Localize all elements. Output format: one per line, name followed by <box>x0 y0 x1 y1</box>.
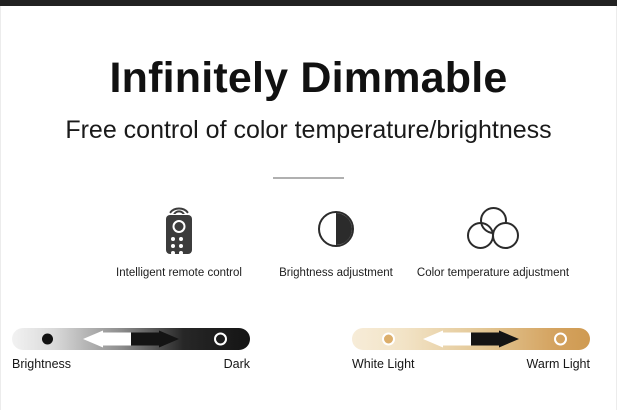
brightness-slider-labels: Brightness Dark <box>12 358 250 371</box>
brightness-slider-left-label: Brightness <box>12 358 71 371</box>
remote-power-button <box>173 220 186 233</box>
remote-key <box>171 237 175 241</box>
page-title: Infinitely Dimmable <box>0 57 617 100</box>
remote-keypad <box>171 237 187 255</box>
remote-key <box>179 251 183 255</box>
brightness-half-circle-icon <box>318 211 354 247</box>
feature-icon-wrap <box>407 200 579 258</box>
feature-color-temperature-adjustment: Color temperature adjustment <box>407 200 579 280</box>
double-arrow-icon <box>82 331 180 348</box>
color-temperature-slider[interactable]: White Light Warm Light <box>352 328 590 374</box>
remote-key <box>171 251 175 255</box>
double-arrow-icon <box>422 331 520 348</box>
signal-wave-icon <box>167 204 191 214</box>
brightness-slider[interactable]: Brightness Dark <box>12 328 250 374</box>
circle-right <box>492 222 519 249</box>
section-divider <box>273 177 344 179</box>
color-temperature-slider-track[interactable] <box>352 328 590 350</box>
color-slider-knob-white[interactable] <box>382 333 395 346</box>
remote-key <box>171 244 175 248</box>
top-dark-band <box>0 0 617 6</box>
brightness-slider-knob-high[interactable] <box>214 333 227 346</box>
color-slider-right-label: Warm Light <box>527 358 590 371</box>
color-slider-knob-warm[interactable] <box>554 333 567 346</box>
remote-body <box>166 215 192 254</box>
remote-key <box>179 237 183 241</box>
brightness-slider-right-label: Dark <box>224 358 250 371</box>
feature-icon-wrap <box>267 200 405 258</box>
feature-label: Intelligent remote control <box>95 268 263 280</box>
remote-control-icon <box>166 204 192 254</box>
color-slider-left-label: White Light <box>352 358 415 371</box>
color-temperature-circles-icon <box>467 207 519 251</box>
page-subtitle: Free control of color temperature/bright… <box>0 118 617 143</box>
feature-icon-wrap <box>95 200 263 258</box>
remote-key <box>179 244 183 248</box>
feature-intelligent-remote-control: Intelligent remote control <box>95 200 263 280</box>
color-temperature-slider-labels: White Light Warm Light <box>352 358 590 371</box>
feature-row: Intelligent remote control Brightness ad… <box>95 200 565 290</box>
brightness-slider-knob-low[interactable] <box>42 334 53 345</box>
feature-label: Color temperature adjustment <box>407 268 579 280</box>
brightness-slider-track[interactable] <box>12 328 250 350</box>
feature-brightness-adjustment: Brightness adjustment <box>267 200 405 280</box>
promo-banner: Infinitely Dimmable Free control of colo… <box>0 0 617 410</box>
feature-label: Brightness adjustment <box>267 268 405 280</box>
